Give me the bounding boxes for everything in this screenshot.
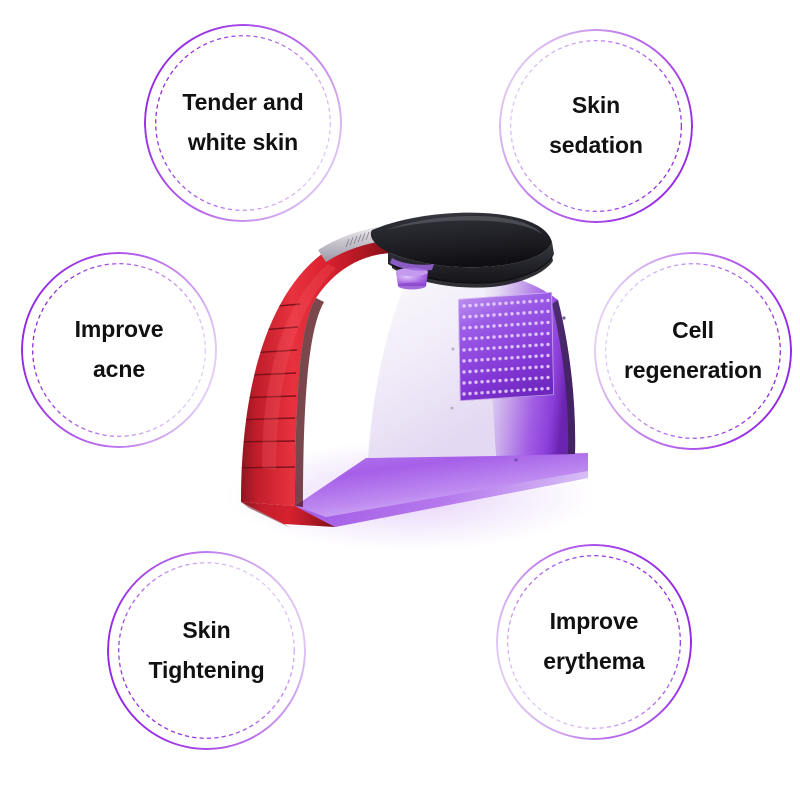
led-grid-array xyxy=(451,286,563,411)
benefit-circle-improve-acne[interactable]: Improve acne xyxy=(21,252,217,448)
panel-screw xyxy=(514,458,517,461)
panel-screw xyxy=(452,348,455,351)
panel-screw xyxy=(562,316,565,319)
benefit-circle-skin-sedation[interactable]: Skin sedation xyxy=(499,29,693,223)
benefit-label: Improve acne xyxy=(61,310,178,389)
benefit-circle-tender-and-white-skin[interactable]: Tender and white skin xyxy=(144,24,342,222)
panel-screw xyxy=(451,407,454,410)
benefit-label: Skin sedation xyxy=(535,86,657,165)
benefit-label: Cell regeneration xyxy=(610,311,776,390)
benefit-circle-cell-regeneration[interactable]: Cell regeneration xyxy=(594,252,792,450)
panel-screw xyxy=(564,451,567,454)
benefit-label: Skin Tightening xyxy=(134,611,278,690)
benefit-label: Improve erythema xyxy=(529,602,658,681)
infographic-canvas: Tender and white skin Skin sedation Impr… xyxy=(0,0,800,800)
benefit-circle-improve-erythema[interactable]: Improve erythema xyxy=(496,544,692,740)
pdt-led-therapy-device xyxy=(196,206,604,536)
benefit-label: Tender and white skin xyxy=(168,83,317,162)
panel-screw xyxy=(566,374,569,377)
hinge-bottom-cap xyxy=(398,283,426,290)
benefit-circle-skin-tightening[interactable]: Skin Tightening xyxy=(107,551,306,750)
